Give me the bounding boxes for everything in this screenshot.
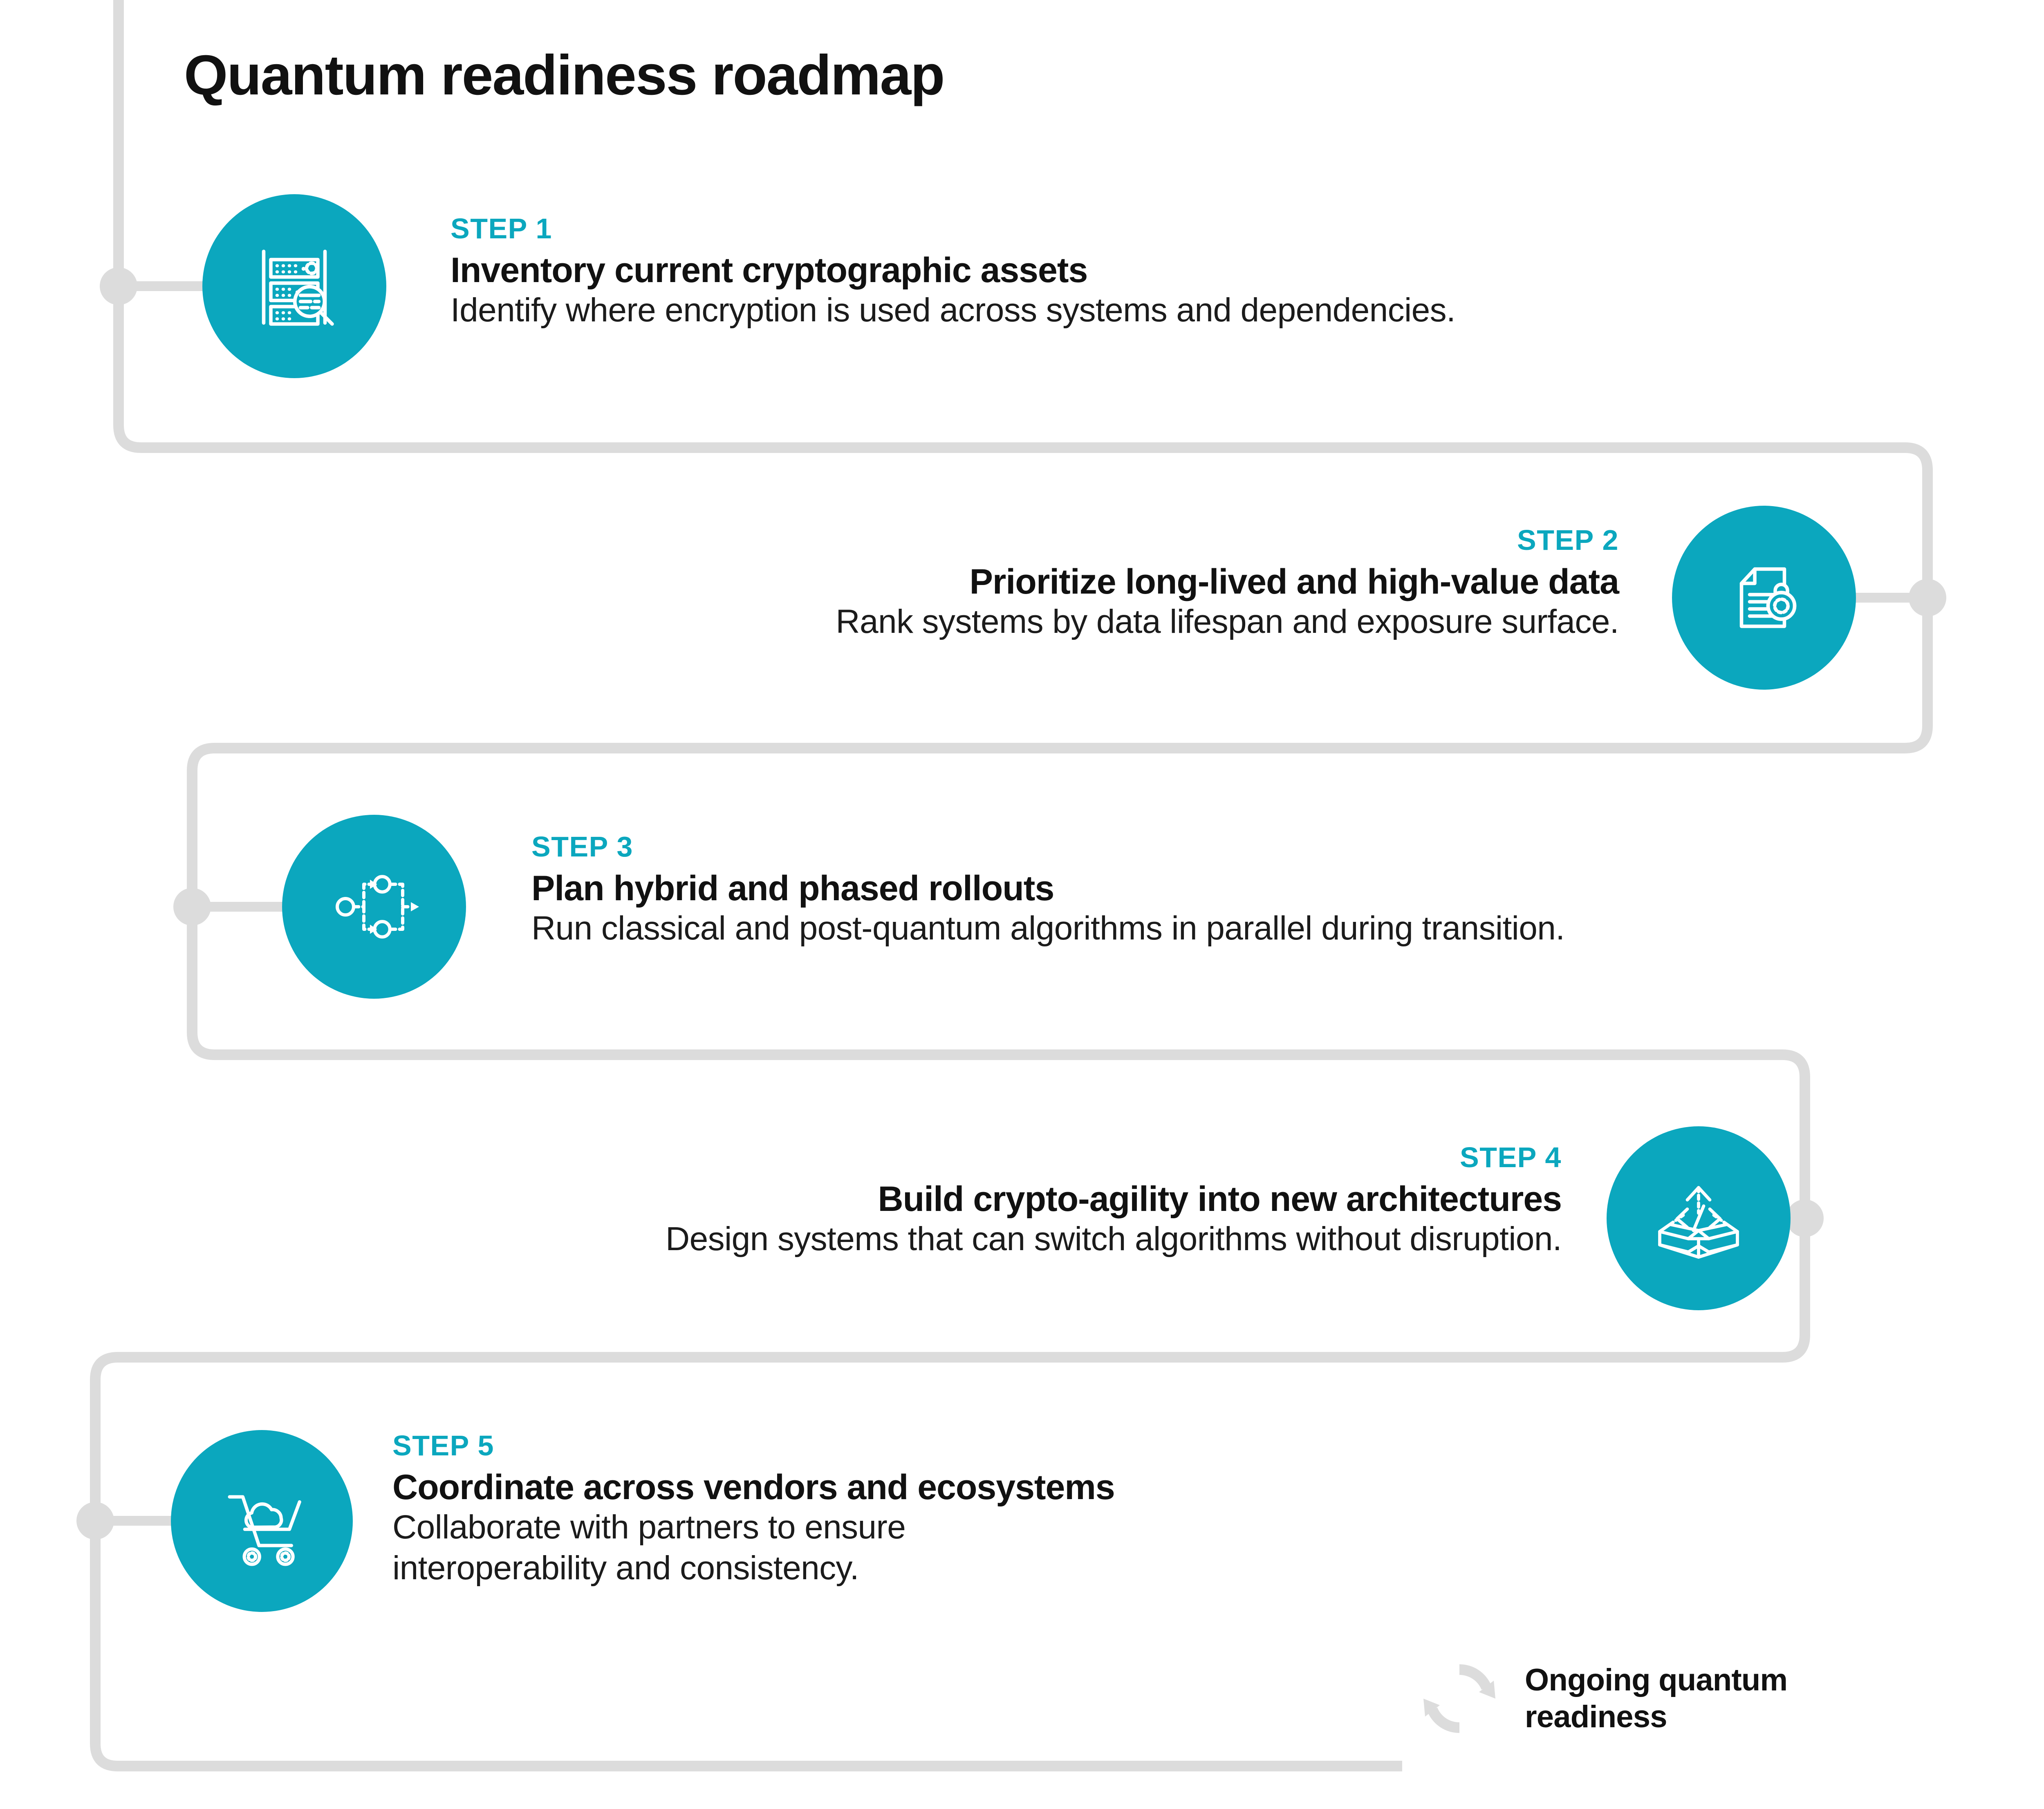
step-4-icon-bubble [1607,1126,1791,1310]
step-5-description: Collaborate with partners to ensure inte… [392,1507,1537,1589]
node-dot-step-1 [100,267,137,305]
step-5-title: Coordinate across vendors and ecosystems [392,1468,1537,1507]
step-2-kicker: STEP 2 [368,525,1619,556]
step-1-text-block: STEP 1 Inventory current cryptographic a… [450,214,1881,331]
node-dot-step-3 [173,888,211,926]
ongoing-readiness-note: Ongoing quantum readiness [1419,1658,1787,1740]
recycle-loop-icon [1419,1658,1500,1740]
open-box-code-icon [1647,1167,1750,1269]
step-4-text-block: STEP 4 Build crypto-agility into new arc… [286,1143,1562,1260]
step-5-text-block: STEP 5 Coordinate across vendors and eco… [392,1431,1537,1589]
step-3-text-block: STEP 3 Plan hybrid and phased rollouts R… [531,832,1962,949]
document-lock-icon [1713,547,1815,649]
step-1-description: Identify where encryption is used across… [450,290,1881,331]
step-2-text-block: STEP 2 Prioritize long-lived and high-va… [368,525,1619,642]
step-4-title: Build crypto-agility into new architectu… [286,1179,1562,1219]
step-1-kicker: STEP 1 [450,214,1881,244]
parallel-flow-icon [323,856,425,958]
step-2-icon-bubble [1672,506,1856,690]
step-1-icon-bubble [202,194,386,378]
step-2-description: Rank systems by data lifespan and exposu… [368,601,1619,642]
page-title: Quantum readiness roadmap [184,43,944,108]
step-3-title: Plan hybrid and phased rollouts [531,869,1962,908]
step-2-title: Prioritize long-lived and high-value dat… [368,562,1619,601]
node-dot-step-5 [76,1502,114,1540]
step-3-description: Run classical and post-quantum algorithm… [531,908,1962,949]
step-3-kicker: STEP 3 [531,832,1962,862]
server-rack-magnifier-icon [243,235,345,337]
cloud-cart-icon [211,1471,313,1572]
step-5-kicker: STEP 5 [392,1431,1537,1461]
step-1-title: Inventory current cryptographic assets [450,251,1881,290]
node-dot-step-2 [1909,579,1946,616]
step-3-icon-bubble [282,815,466,999]
roadmap-infographic: Quantum readiness roadmap [0,0,2044,1809]
step-5-icon-bubble [171,1430,353,1612]
ongoing-readiness-label: Ongoing quantum readiness [1525,1662,1787,1735]
step-4-kicker: STEP 4 [286,1143,1562,1173]
step-4-description: Design systems that can switch algorithm… [286,1219,1562,1260]
node-dot-step-4 [1786,1199,1824,1237]
